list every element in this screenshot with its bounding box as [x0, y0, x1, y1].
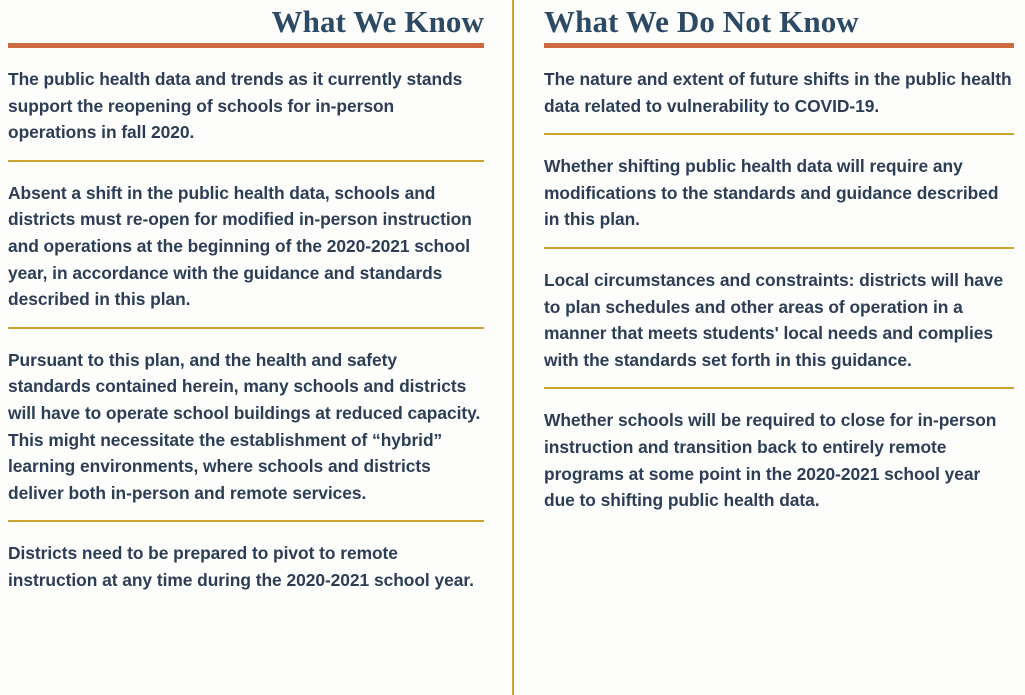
- column-what-we-do-not-know: What We Do Not Know The nature and exten…: [513, 0, 1025, 695]
- list-item: The nature and extent of future shifts i…: [544, 48, 1014, 133]
- list-what-we-know: The public health data and trends as it …: [8, 48, 484, 608]
- column-heading-what-we-know: What We Know: [8, 0, 484, 42]
- list-item: Pursuant to this plan, and the health an…: [8, 329, 484, 521]
- list-item-text: The nature and extent of future shifts i…: [544, 48, 1014, 133]
- list-item-text: Districts need to be prepared to pivot t…: [8, 522, 484, 607]
- column-heading-what-we-do-not-know: What We Do Not Know: [544, 0, 1014, 42]
- list-item: Districts need to be prepared to pivot t…: [8, 522, 484, 607]
- list-item: Whether shifting public health data will…: [544, 135, 1014, 247]
- list-what-we-do-not-know: The nature and extent of future shifts i…: [544, 48, 1014, 528]
- list-item-text: Pursuant to this plan, and the health an…: [8, 329, 484, 521]
- list-item-text: Whether schools will be required to clos…: [544, 389, 1014, 527]
- list-item-text: The public health data and trends as it …: [8, 48, 484, 160]
- two-column-comparison-board: What We Know The public health data and …: [0, 0, 1025, 695]
- list-item: The public health data and trends as it …: [8, 48, 484, 160]
- column-what-we-know: What We Know The public health data and …: [0, 0, 513, 695]
- list-item-text: Local circumstances and constraints: dis…: [544, 249, 1014, 387]
- list-item: Whether schools will be required to clos…: [544, 389, 1014, 527]
- list-item-text: Whether shifting public health data will…: [544, 135, 1014, 247]
- list-item-text: Absent a shift in the public health data…: [8, 162, 484, 327]
- list-item: Local circumstances and constraints: dis…: [544, 249, 1014, 387]
- list-item: Absent a shift in the public health data…: [8, 162, 484, 327]
- column-divider: [512, 0, 514, 695]
